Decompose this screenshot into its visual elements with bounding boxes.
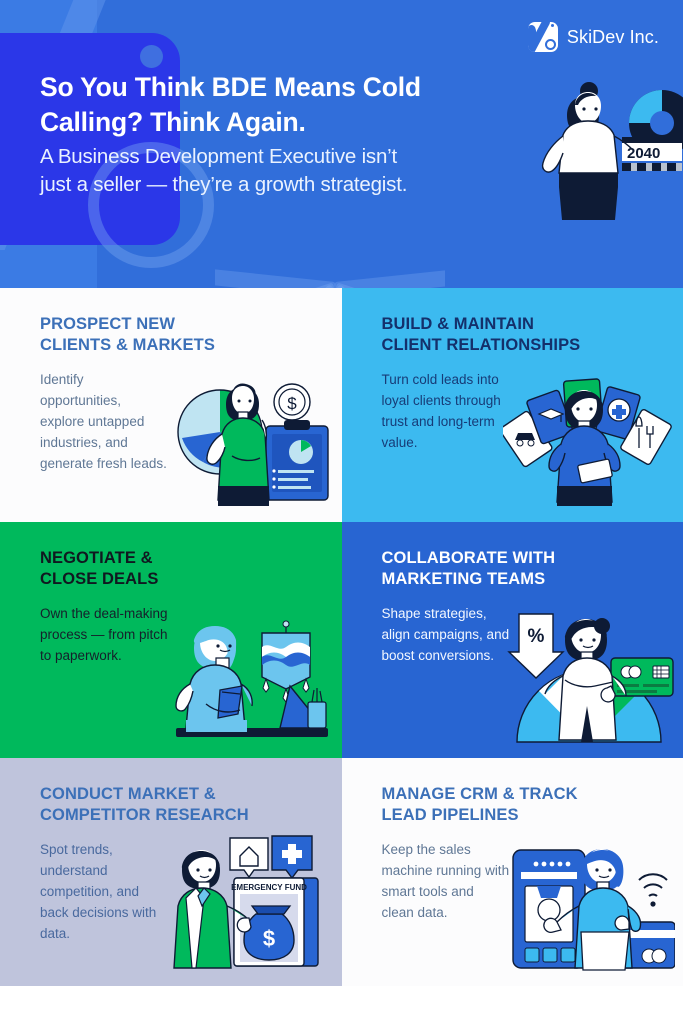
card-market-competitor-research[interactable]: CONDUCT MARKET & COMPETITOR RESEARCH Spo…	[0, 758, 342, 986]
hero-illustration-strategist: 2040	[523, 75, 683, 220]
svg-text:$: $	[262, 926, 274, 951]
emergency-fund-label: EMERGENCY FUND	[231, 883, 307, 892]
card-build-maintain-relationships[interactable]: BUILD & MAINTAIN CLIENT RELATIONSHIPS Tu…	[342, 288, 683, 522]
card-title-line1: CONDUCT MARKET &	[40, 784, 320, 805]
card-body: Keep the sales machine running with smar…	[382, 839, 510, 923]
card-manage-crm-pipelines[interactable]: MANAGE CRM & TRACK LEAD PIPELINES Keep t…	[342, 758, 683, 986]
hero-dot-decoration	[140, 45, 163, 68]
illustration-client-relationship-cards	[503, 364, 675, 514]
card-title: BUILD & MAINTAIN CLIENT RELATIONSHIPS	[382, 314, 662, 356]
card-title-line2: MARKETING TEAMS	[382, 569, 662, 590]
illustration-negotiation-desk	[162, 600, 334, 750]
hero-headline: So You Think BDE Means Cold Calling? Thi…	[40, 70, 540, 140]
card-body: Identify opportunities, explore untapped…	[40, 369, 168, 474]
card-title-line1: NEGOTIATE &	[40, 548, 320, 569]
card-body: Spot trends, understand competition, and…	[40, 839, 168, 944]
svg-text:$: $	[287, 394, 297, 413]
card-title: NEGOTIATE & CLOSE DEALS	[40, 548, 320, 590]
hero-subheadline-line1: A Business Development Executive isn’t	[40, 143, 540, 171]
card-title-line2: CLOSE DEALS	[40, 569, 320, 590]
hero-headline-line1: So You Think BDE Means Cold	[40, 70, 540, 105]
card-body: Shape strategies, align campaigns, and b…	[382, 603, 510, 666]
card-title-line2: LEAD PIPELINES	[382, 805, 662, 826]
card-title: PROSPECT NEW CLIENTS & MARKETS	[40, 314, 320, 356]
hero-subheadline-line2: just a seller — they’re a growth strateg…	[40, 171, 540, 199]
responsibility-card-grid: PROSPECT NEW CLIENTS & MARKETS Identify …	[0, 288, 683, 986]
card-title-line1: COLLABORATE WITH	[382, 548, 662, 569]
card-prospect-new-clients[interactable]: PROSPECT NEW CLIENTS & MARKETS Identify …	[0, 288, 342, 522]
illustration-research-emergency-fund: EMERGENCY FUND $	[162, 828, 334, 978]
illustration-prospecting-pie-chart: $	[162, 364, 334, 514]
card-title-line1: PROSPECT NEW	[40, 314, 320, 335]
page-footer-space	[0, 986, 683, 1024]
card-title-line1: BUILD & MAINTAIN	[382, 314, 662, 335]
hero-copy: So You Think BDE Means Cold Calling? Thi…	[40, 70, 540, 199]
card-body: Turn cold leads into loyal clients throu…	[382, 369, 510, 453]
card-title: CONDUCT MARKET & COMPETITOR RESEARCH	[40, 784, 320, 826]
illustration-marketing-gauge: %	[503, 600, 675, 750]
card-title: MANAGE CRM & TRACK LEAD PIPELINES	[382, 784, 662, 826]
svg-text:2040: 2040	[627, 145, 660, 162]
brand-name: SkiDev Inc.	[567, 27, 659, 48]
card-row-1: PROSPECT NEW CLIENTS & MARKETS Identify …	[0, 288, 683, 522]
card-title-line2: COMPETITOR RESEARCH	[40, 805, 320, 826]
card-title-line2: CLIENT RELATIONSHIPS	[382, 335, 662, 356]
hero-headline-line2: Calling? Think Again.	[40, 105, 540, 140]
logo-glyph-icon	[528, 22, 558, 52]
card-title-line2: CLIENTS & MARKETS	[40, 335, 320, 356]
card-title-line1: MANAGE CRM & TRACK	[382, 784, 662, 805]
hero-banner: SkiDev Inc. 2040	[0, 0, 683, 288]
card-body: Own the deal-making process — from pitch…	[40, 603, 168, 666]
card-row-3: CONDUCT MARKET & COMPETITOR RESEARCH Spo…	[0, 758, 683, 986]
card-row-2: NEGOTIATE & CLOSE DEALS Own the deal-mak…	[0, 522, 683, 758]
card-negotiate-close-deals[interactable]: NEGOTIATE & CLOSE DEALS Own the deal-mak…	[0, 522, 342, 758]
percent-symbol: %	[528, 626, 545, 647]
infographic-page: SkiDev Inc. 2040	[0, 0, 683, 1024]
brand-logo[interactable]: SkiDev Inc.	[528, 22, 659, 52]
card-title: COLLABORATE WITH MARKETING TEAMS	[382, 548, 662, 590]
card-collaborate-marketing[interactable]: COLLABORATE WITH MARKETING TEAMS Shape s…	[342, 522, 683, 758]
illustration-crm-mobile-tools	[503, 828, 675, 978]
hero-subheadline: A Business Development Executive isn’t j…	[40, 143, 540, 199]
